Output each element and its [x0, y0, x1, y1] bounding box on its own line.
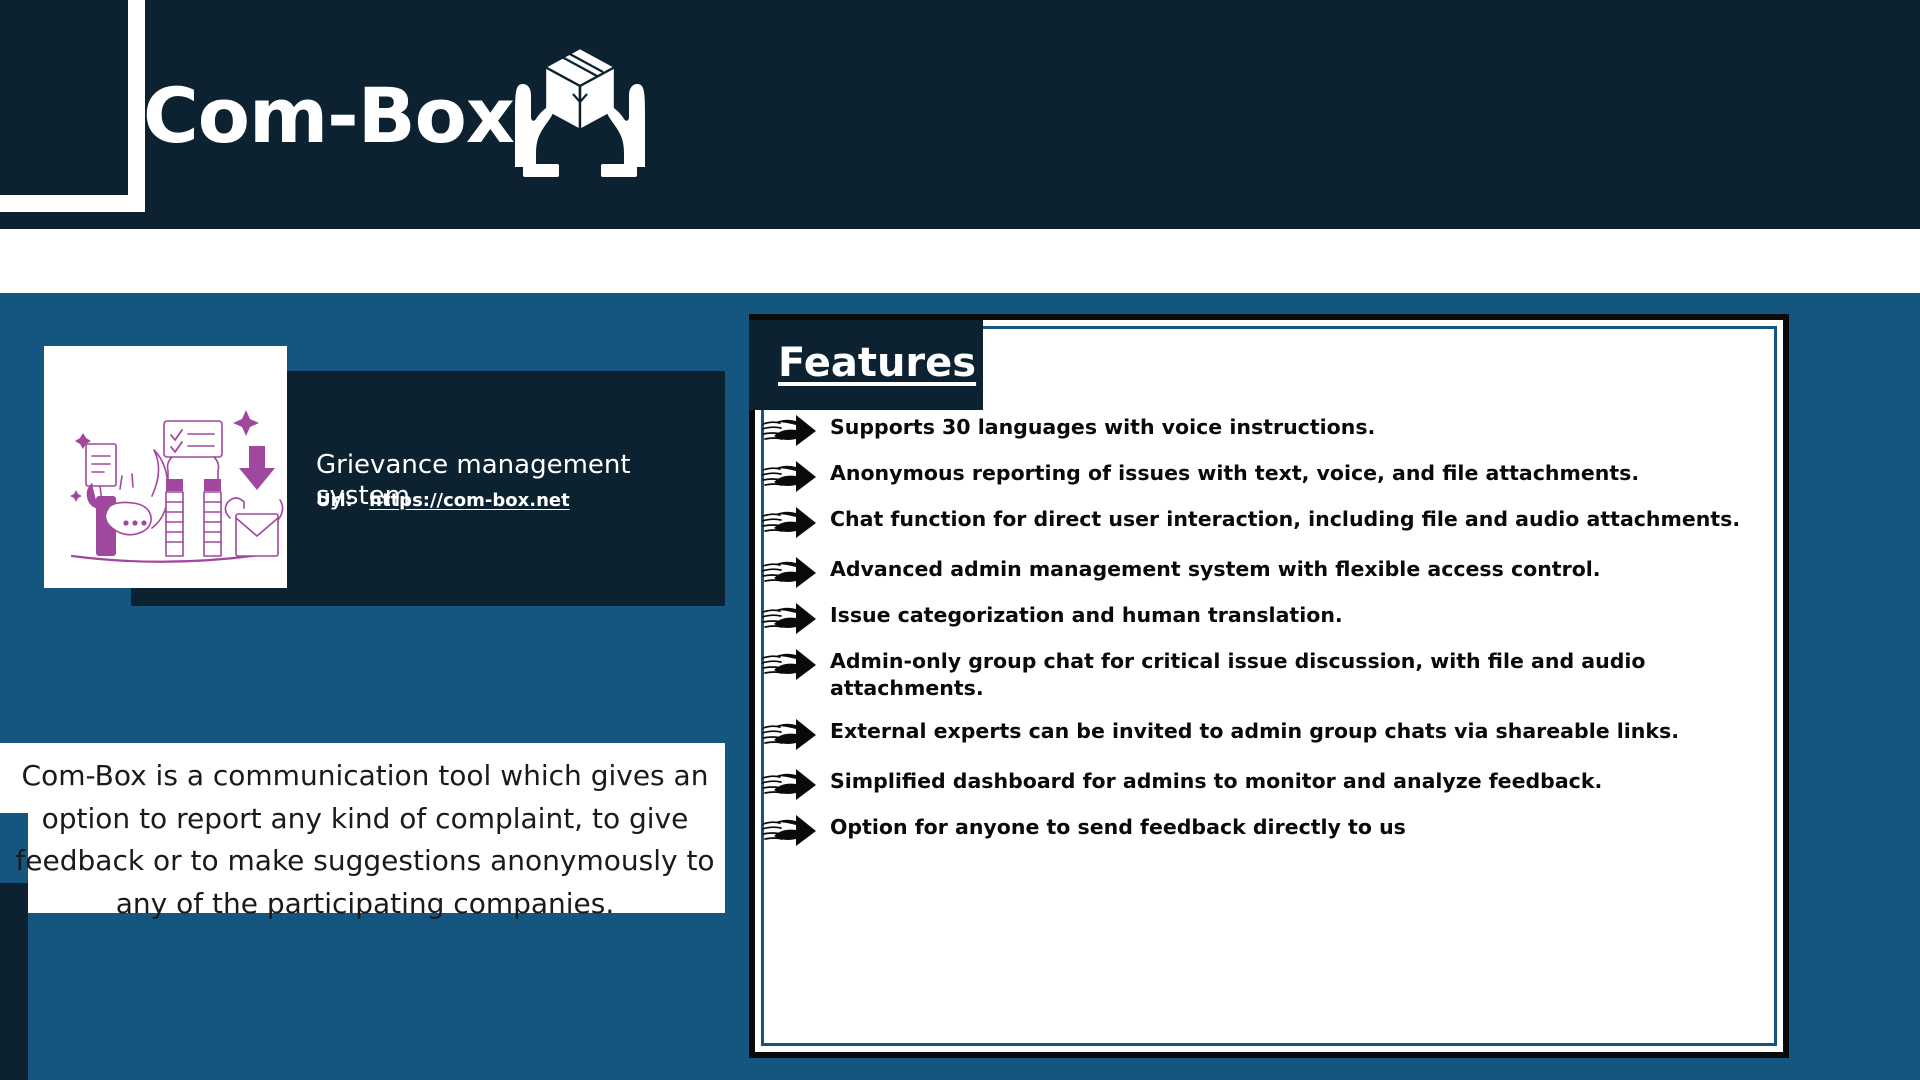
features-list: Supports 30 languages with voice instruc…: [762, 412, 1780, 858]
feature-item-7: External experts can be invited to admin…: [762, 716, 1780, 752]
feature-item-4: Advanced admin management system with fl…: [762, 554, 1780, 590]
url-label: Url:: [316, 490, 353, 511]
motion-arrow-icon: [762, 718, 824, 752]
slide-canvas: Com-Box: [0, 0, 1920, 1080]
feature-text: Issue categorization and human translati…: [830, 600, 1343, 629]
motion-arrow-icon: [762, 602, 824, 636]
feature-item-8: Simplified dashboard for admins to monit…: [762, 766, 1780, 802]
motion-arrow-icon: [762, 506, 824, 540]
feature-text: Admin-only group chat for critical issue…: [830, 646, 1765, 702]
motion-arrow-icon: [762, 768, 824, 802]
illustration-card: [44, 346, 287, 588]
product-url-row: Url: https://com-box.net: [316, 490, 570, 511]
feature-item-2: Anonymous reporting of issues with text,…: [762, 458, 1780, 494]
feature-text: External experts can be invited to admin…: [830, 716, 1679, 745]
header-bar: Com-Box: [0, 0, 1920, 229]
motion-arrow-icon: [762, 814, 824, 848]
feature-text: Advanced admin management system with fl…: [830, 554, 1601, 583]
feature-item-1: Supports 30 languages with voice instruc…: [762, 412, 1780, 448]
feature-item-9: Option for anyone to send feedback direc…: [762, 812, 1780, 848]
feature-text: Option for anyone to send feedback direc…: [830, 812, 1406, 841]
feature-text: Anonymous reporting of issues with text,…: [830, 458, 1639, 487]
feature-text: Chat function for direct user interactio…: [830, 504, 1740, 533]
motion-arrow-icon: [762, 648, 824, 682]
box-in-hands-icon: [505, 42, 655, 182]
feature-text: Supports 30 languages with voice instruc…: [830, 412, 1375, 441]
feature-item-6: Admin-only group chat for critical issue…: [762, 646, 1780, 702]
brand-wordmark: Com-Box: [143, 78, 514, 154]
motion-arrow-icon: [762, 414, 824, 448]
product-url-link[interactable]: https://com-box.net: [369, 490, 570, 511]
feature-text: Simplified dashboard for admins to monit…: [830, 766, 1602, 795]
motion-arrow-icon: [762, 460, 824, 494]
description-text: Com-Box is a communication tool which gi…: [10, 755, 720, 925]
feature-item-3: Chat function for direct user interactio…: [762, 504, 1780, 540]
corner-bracket-horizontal-icon: [0, 195, 145, 212]
decorative-blue-block: [28, 913, 725, 1080]
features-title: Features: [778, 340, 976, 386]
feature-item-5: Issue categorization and human translati…: [762, 600, 1780, 636]
motion-arrow-icon: [762, 556, 824, 590]
